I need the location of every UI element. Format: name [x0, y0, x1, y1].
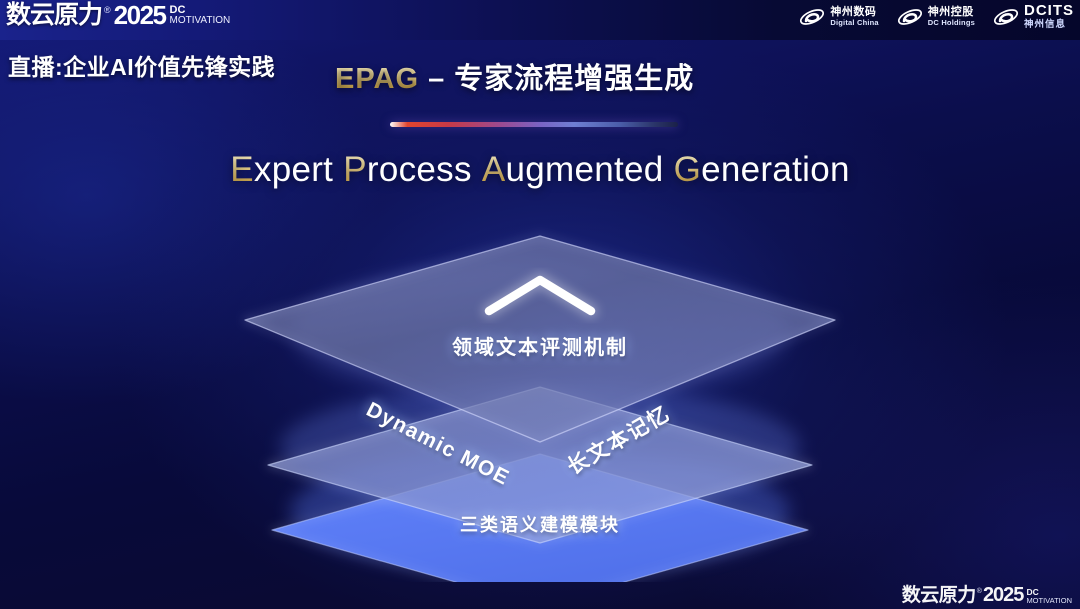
title-chinese: 专家流程增强生成 [454, 63, 694, 95]
isometric-layer-stack [0, 222, 1080, 582]
partner-logo-group: 神州数码 Digital China 神州控股 DC Holdings DCIT… [799, 3, 1074, 30]
watermark-motivation: MOTIVATION [1026, 597, 1072, 605]
subtitle-cap-e: E [230, 150, 254, 189]
subtitle-word-augmented: ugmented [505, 150, 663, 189]
subtitle-word-generation: eneration [701, 150, 850, 189]
slide-canvas: 数云原力 ® 2025 DC MOTIVATION 神州数码 Digital C… [0, 0, 1080, 609]
subtitle-cap-p: P [343, 150, 367, 189]
page-subtitle: Expert Process Augmented Generation [0, 150, 1080, 190]
partner-name-cn: 神州数码 [830, 6, 878, 18]
brand-name-cn: 数云原力 [6, 3, 102, 28]
swirl-logo-icon [799, 6, 825, 28]
partner-digital-china: 神州数码 Digital China [799, 6, 878, 28]
partner-text: 神州数码 Digital China [830, 6, 878, 27]
subtitle-word-process: rocess [367, 150, 472, 189]
partner-text: 神州控股 DC Holdings [928, 6, 975, 27]
partner-dcits: DCITS 神州信息 [993, 3, 1074, 30]
partner-text: DCITS 神州信息 [1024, 3, 1074, 30]
partner-dc-holdings: 神州控股 DC Holdings [897, 6, 975, 28]
stack-svg [0, 222, 1080, 582]
brand-logo: 数云原力 ® 2025 DC MOTIVATION [6, 2, 230, 28]
partner-name-en: 神州信息 [1024, 20, 1074, 31]
corner-watermark-logo: 数云原力 ® 2025 DC MOTIVATION [902, 585, 1072, 605]
page-title: EPAG – 专家流程增强生成 [335, 55, 694, 97]
title-dash: – [419, 63, 454, 95]
brand-motivation: MOTIVATION [170, 16, 231, 26]
partner-name-cn: DCITS [1024, 3, 1074, 20]
subtitle-word-expert: xpert [254, 150, 333, 189]
partner-name-en: DC Holdings [928, 19, 975, 27]
watermark-name-cn: 数云原力 [902, 586, 976, 605]
partner-name-en: Digital China [830, 19, 878, 27]
live-banner-text: 直播:企业AI价值先锋实践 [8, 48, 275, 82]
watermark-year: 2025 [983, 585, 1024, 605]
brand-year: 2025 [114, 2, 166, 28]
watermark-registered-icon: ® [977, 588, 982, 595]
registered-mark-icon: ® [104, 6, 111, 15]
subtitle-cap-g: G [674, 150, 702, 189]
partner-name-cn: 神州控股 [928, 6, 975, 18]
title-divider [390, 122, 678, 127]
swirl-logo-icon [993, 6, 1019, 28]
title-acronym: EPAG [335, 63, 419, 95]
brand-dc-motivation: DC MOTIVATION [170, 5, 231, 26]
subtitle-cap-a: A [482, 150, 506, 189]
swirl-logo-icon [897, 6, 923, 28]
watermark-dc-motivation: DC MOTIVATION [1026, 588, 1072, 604]
